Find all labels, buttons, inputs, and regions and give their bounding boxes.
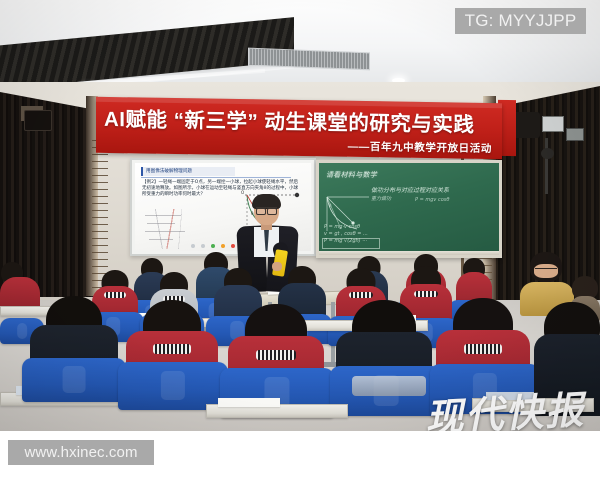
toolbar-dot[interactable]: [201, 244, 205, 248]
chalkboard-highlight-box: [322, 238, 380, 249]
camera-pole: [545, 138, 548, 194]
chalkboard-equation: P = mgv cosθ: [415, 197, 449, 203]
banner-subtitle: ——百年九中教学开放日活动: [348, 139, 492, 156]
chalkboard-title: 请看材料与数学: [326, 170, 377, 180]
green-chalkboard: 请看材料与数学 做功分布与对应过程对应关系 重力做功 P = mgv cosθ …: [316, 160, 502, 258]
wall-speaker-icon: [24, 110, 52, 131]
chalk-work-line: P = mg·v·cosθ: [324, 224, 386, 231]
slide-divider: [141, 177, 291, 178]
toolbar-dot-orange[interactable]: [221, 244, 225, 248]
page-canvas: AI赋能 “新三学” 动生课堂的研究与实践 ——百年九中教学开放日活动 用图像法…: [0, 0, 600, 480]
camera-icon: [541, 148, 554, 159]
event-banner: AI赋能 “新三学” 动生课堂的研究与实践 ——百年九中教学开放日活动: [96, 97, 502, 159]
desk-paper: [218, 398, 280, 407]
glasses-icon: [256, 207, 277, 213]
chalkboard-line-1: 做功分布与对应过程对应关系: [371, 185, 449, 194]
website-url-overlay: www.hxinec.com: [8, 440, 154, 465]
av-control-box-secondary: [566, 128, 584, 141]
slide-header-bar: 用图像法破解物理问题: [141, 167, 235, 176]
av-control-box: [542, 116, 564, 132]
toolbar-dot[interactable]: [191, 244, 195, 248]
student-chair-front: [118, 362, 228, 410]
classroom-photograph: AI赋能 “新三学” 动生课堂的研究与实践 ——百年九中教学开放日活动 用图像法…: [0, 0, 600, 431]
chalk-work-line: v = gt , cosθ = ...: [324, 231, 386, 238]
publisher-watermark: 现代快报: [424, 379, 587, 431]
student-chair-front: [22, 358, 126, 402]
telegram-tag-overlay: TG: MYYJJPP: [455, 8, 586, 34]
slide-header-text: 用图像法破解物理问题: [146, 168, 192, 174]
pencil-case: [352, 376, 426, 396]
left-wall-tick-graphic: [92, 140, 108, 290]
banner-title: AI赋能 “新三学” 动生课堂的研究与实践: [104, 102, 496, 138]
toolbar-dot-green[interactable]: [211, 244, 215, 248]
svg-text:O: O: [241, 190, 244, 195]
